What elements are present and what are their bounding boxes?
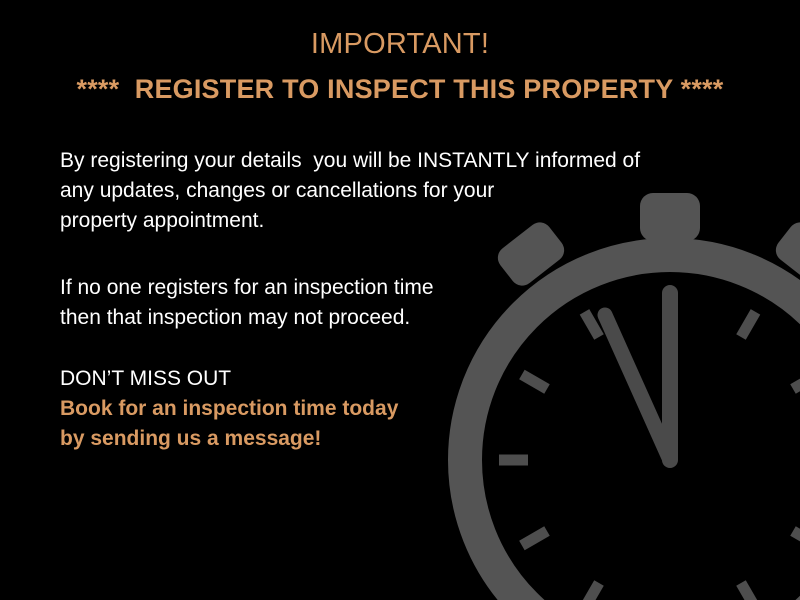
- body-paragraph-no-registrations: If no one registers for an inspection ti…: [60, 273, 434, 333]
- call-to-action-block: DON’T MISS OUT Book for an inspection ti…: [60, 364, 398, 454]
- cta-book-inspection: Book for an inspection time today: [60, 394, 398, 424]
- body-paragraph-registering: By registering your details you will be …: [60, 146, 640, 236]
- cta-send-message: by sending us a message!: [60, 424, 398, 454]
- headline-register: **** REGISTER TO INSPECT THIS PROPERTY *…: [0, 74, 800, 105]
- promo-slide: IMPORTANT! **** REGISTER TO INSPECT THIS…: [0, 0, 800, 600]
- headline-important: IMPORTANT!: [0, 28, 800, 61]
- cta-dont-miss-out: DON’T MISS OUT: [60, 364, 398, 394]
- slide-content: IMPORTANT! **** REGISTER TO INSPECT THIS…: [0, 0, 800, 600]
